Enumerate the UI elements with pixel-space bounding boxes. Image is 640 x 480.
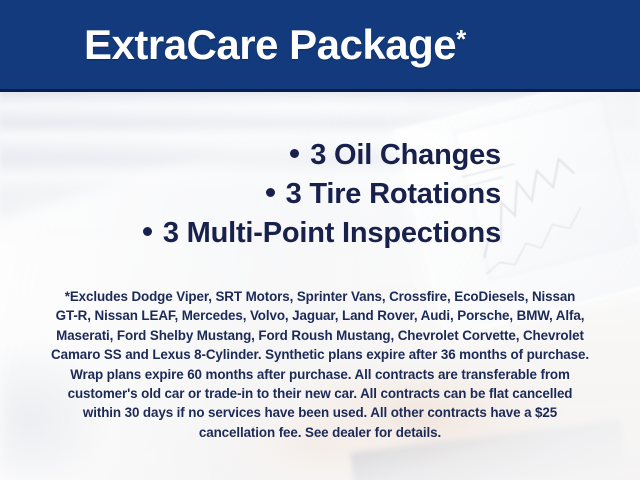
benefits-list: 3 Oil Changes 3 Tire Rotations 3 Multi-P… <box>0 136 640 253</box>
benefit-label: 3 Multi-Point Inspections <box>163 217 501 249</box>
page-title-asterisk: * <box>456 24 466 54</box>
benefit-label: 3 Oil Changes <box>310 139 501 171</box>
list-item: 3 Oil Changes <box>0 136 501 175</box>
extracare-package-poster: ExtraCare Package* 3 Oil Changes 3 Tire … <box>0 0 640 480</box>
bullet-dot-icon <box>143 227 152 236</box>
disclaimer-line: customer's old car or trade-in to their … <box>22 384 618 403</box>
bullet-dot-icon <box>266 188 275 197</box>
disclaimer-line: Camaro SS and Lexus 8-Cylinder. Syntheti… <box>22 345 618 364</box>
page-title-text: ExtraCare Package <box>84 21 456 68</box>
list-item: 3 Tire Rotations <box>0 175 501 214</box>
benefit-label: 3 Tire Rotations <box>286 178 501 210</box>
header-banner: ExtraCare Package* <box>0 0 640 92</box>
disclaimer-line: *Excludes Dodge Viper, SRT Motors, Sprin… <box>22 287 618 306</box>
list-item: 3 Multi-Point Inspections <box>0 214 501 253</box>
page-title: ExtraCare Package* <box>84 24 466 66</box>
disclaimer-line: within 30 days if no services have been … <box>22 403 618 422</box>
disclaimer-block: *Excludes Dodge Viper, SRT Motors, Sprin… <box>0 287 640 442</box>
bullet-dot-icon <box>290 149 299 158</box>
disclaimer-line: GT-R, Nissan LEAF, Mercedes, Volvo, Jagu… <box>22 306 618 325</box>
disclaimer-line: Wrap plans expire 60 months after purcha… <box>22 365 618 384</box>
disclaimer-line: Maserati, Ford Shelby Mustang, Ford Rous… <box>22 326 618 345</box>
disclaimer-line: cancellation fee. See dealer for details… <box>22 423 618 442</box>
